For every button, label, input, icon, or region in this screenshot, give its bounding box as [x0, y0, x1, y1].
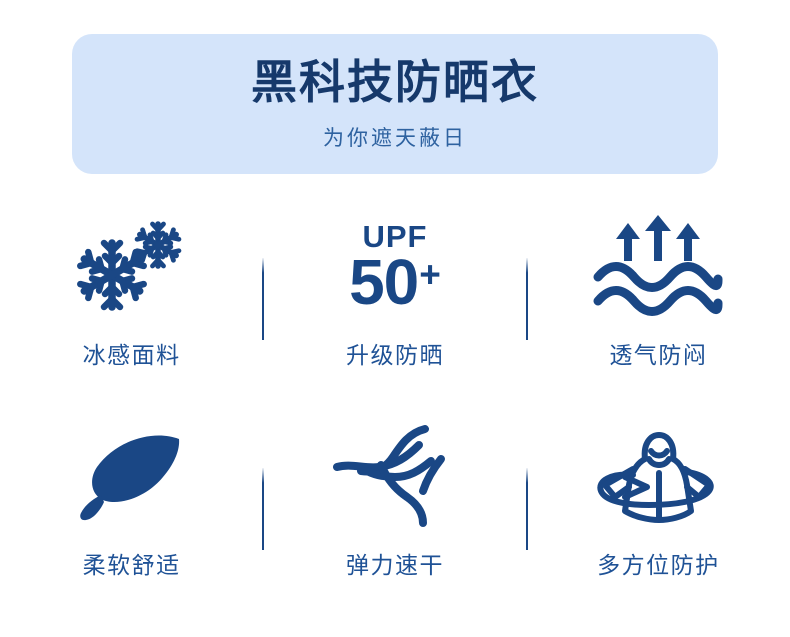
elastic-fibers-icon	[315, 422, 475, 532]
breathable-waves-arrows-icon	[578, 212, 738, 322]
feature-row-bottom: 柔软舒适 弹力速干	[0, 422, 790, 632]
feature-label: 多方位防护	[597, 554, 720, 577]
upf-suffix-text: +	[419, 256, 441, 293]
feature-item-breathability: 透气防闷	[527, 212, 790, 367]
page-title: 黑科技防晒衣	[251, 58, 539, 106]
feature-label: 透气防闷	[609, 344, 707, 367]
snowflakes-icon	[52, 212, 212, 322]
feature-item-cooling-fabric: 冰感面料	[0, 212, 263, 367]
feature-item-upf-protection: UPF 50 + 升级防晒	[263, 212, 526, 367]
feature-item-elastic-quickdry: 弹力速干	[263, 422, 526, 577]
upf-50-plus-icon: UPF 50 +	[315, 212, 475, 322]
header-banner: 黑科技防晒衣 为你遮天蔽日	[72, 34, 718, 174]
feature-grid: 冰感面料 UPF 50 + 升级防晒	[0, 212, 790, 632]
feature-label: 弹力速干	[346, 554, 444, 577]
feature-label: 冰感面料	[83, 344, 181, 367]
feature-item-allround-protection: 多方位防护	[527, 422, 790, 577]
feature-item-soft-comfort: 柔软舒适	[0, 422, 263, 577]
feature-label: 柔软舒适	[83, 554, 181, 577]
page-subtitle: 为你遮天蔽日	[323, 122, 467, 152]
hooded-jacket-protection-icon	[578, 422, 738, 532]
feature-label: 升级防晒	[346, 344, 444, 367]
upf-value-text: 50	[349, 250, 418, 314]
feature-row-top: 冰感面料 UPF 50 + 升级防晒	[0, 212, 790, 422]
leaf-icon	[52, 422, 212, 532]
